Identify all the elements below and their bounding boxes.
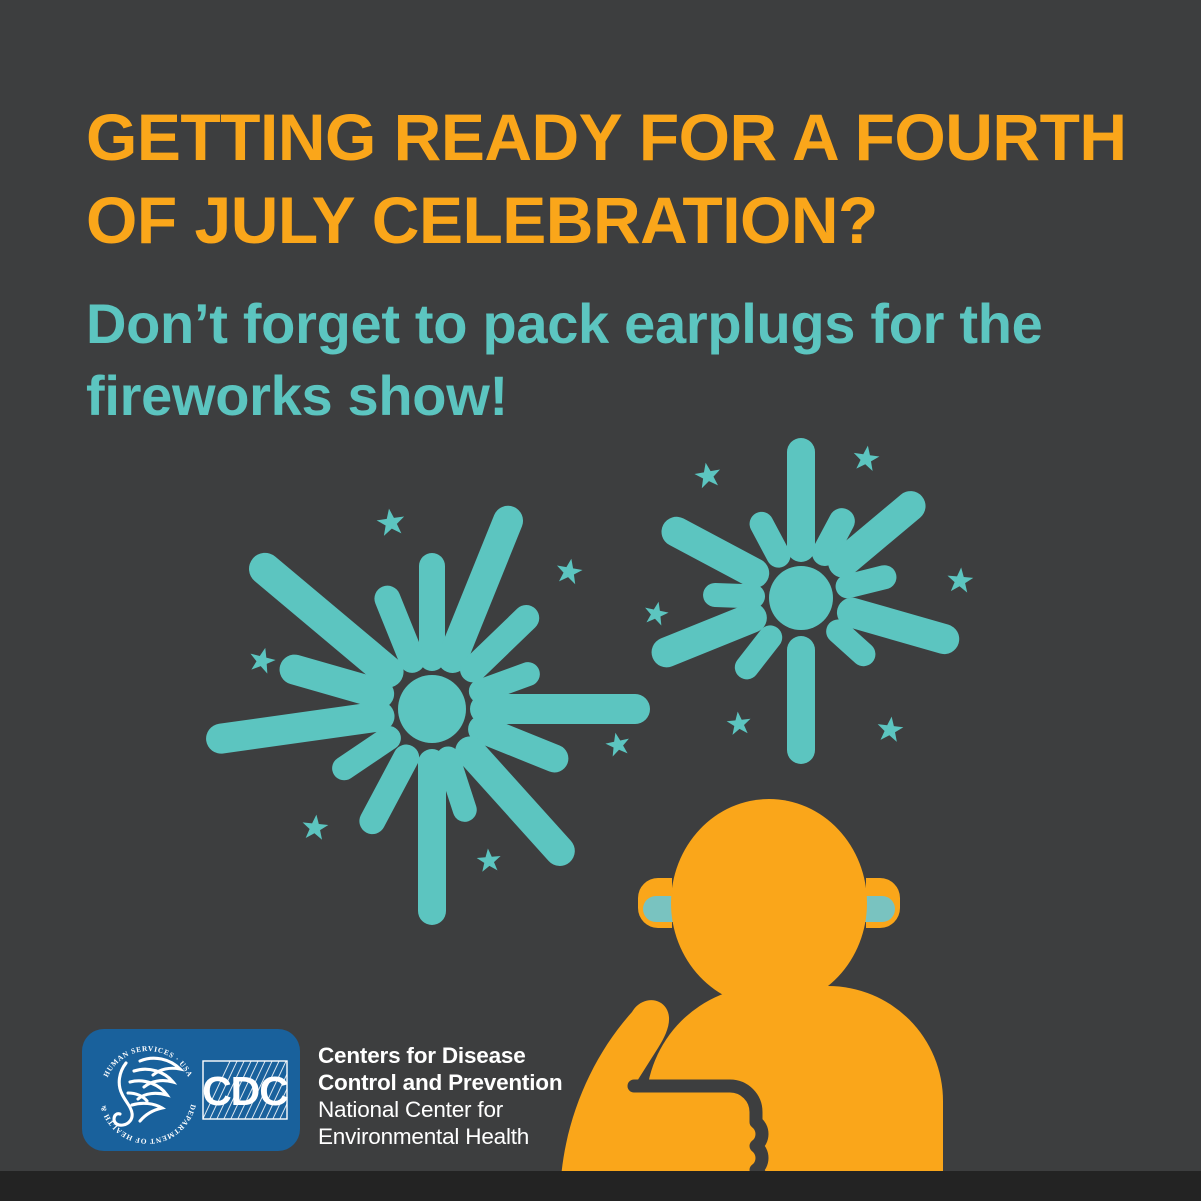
cdc-logo-text: Centers for Disease Control and Preventi… — [318, 1029, 562, 1150]
hhs-bird-icon — [114, 1058, 180, 1125]
page-title: GETTING READY FOR A FOURTH OF JULY CELEB… — [86, 96, 1146, 262]
cdc-name-line1: Centers for Disease — [318, 1042, 562, 1069]
firework-core-right — [769, 566, 833, 630]
poster-canvas: GETTING READY FOR A FOURTH OF JULY CELEB… — [0, 0, 1201, 1201]
cdc-logo-lockup[interactable]: HUMAN SERVICES · USA DEPARTMENT OF HEALT… — [82, 1029, 562, 1151]
hhs-cdc-badge: HUMAN SERVICES · USA DEPARTMENT OF HEALT… — [82, 1029, 300, 1151]
bottom-bar — [0, 1171, 1201, 1201]
cdc-name-line2: Control and Prevention — [318, 1069, 562, 1096]
firework-burst-left — [204, 501, 650, 925]
svg-text:CDC: CDC — [202, 1068, 288, 1114]
cdc-mark: CDC — [200, 1057, 300, 1125]
cdc-center-line1: National Center for — [318, 1096, 562, 1123]
firework-burst-right — [642, 438, 974, 764]
cdc-center-line2: Environmental Health — [318, 1123, 562, 1150]
head — [671, 799, 867, 1007]
svg-text:HUMAN SERVICES · USA: HUMAN SERVICES · USA — [101, 1044, 195, 1079]
page-subtitle: Don’t forget to pack earplugs for the fi… — [86, 288, 1096, 432]
hhs-seal-and-cdc-mark: HUMAN SERVICES · USA DEPARTMENT OF HEALT… — [82, 1029, 300, 1151]
firework-core-left — [398, 675, 466, 743]
svg-text:DEPARTMENT OF HEALTH &: DEPARTMENT OF HEALTH & — [98, 1103, 198, 1146]
person-with-earplugs — [560, 799, 943, 1201]
